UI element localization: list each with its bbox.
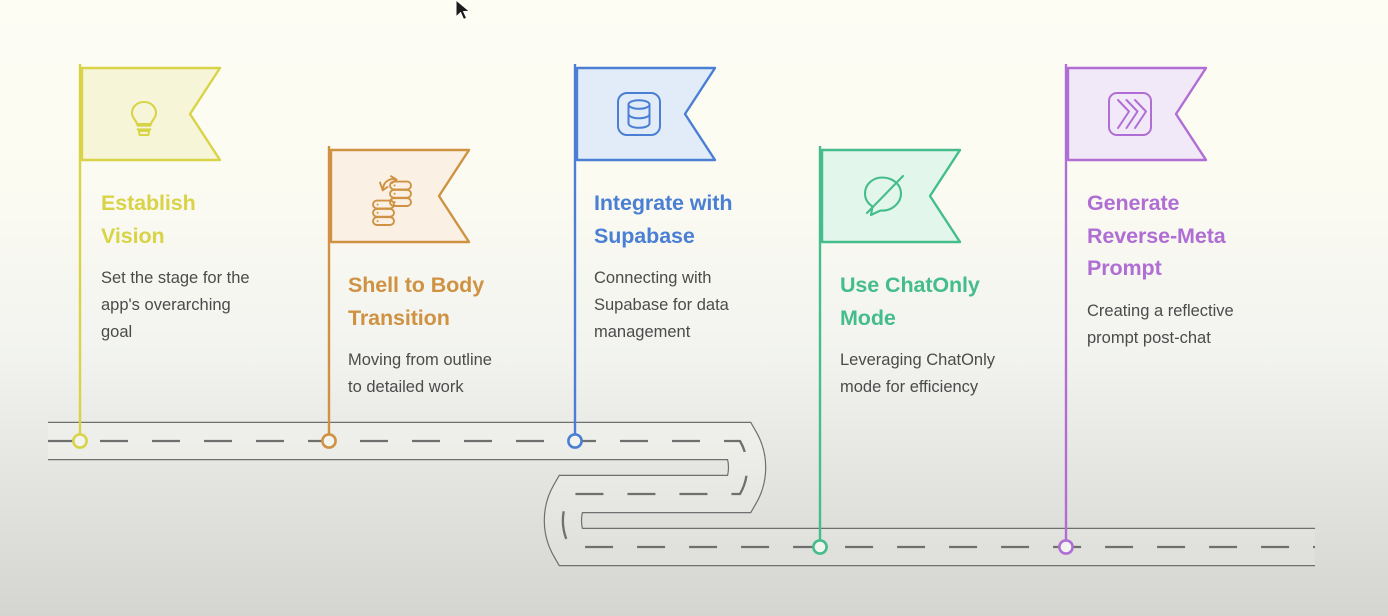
road-marker[interactable] <box>568 434 581 447</box>
infographic-canvas: Establish Vision Set the stage for the a… <box>0 0 1388 616</box>
milestone-marker-integrate-with-supabase[interactable] <box>568 64 715 448</box>
milestone-flag[interactable] <box>331 150 469 242</box>
road-marker[interactable] <box>322 434 335 447</box>
milestone-marker-shell-to-body-transition[interactable] <box>322 146 469 448</box>
road-marker[interactable] <box>1059 540 1072 553</box>
road-marker[interactable] <box>813 540 826 553</box>
milestone-flag[interactable] <box>82 68 220 160</box>
milestone-flag[interactable] <box>822 150 960 242</box>
milestone-flag[interactable] <box>577 68 715 160</box>
road-marker[interactable] <box>73 434 86 447</box>
milestone-marker-use-chatonly-mode[interactable] <box>813 146 960 554</box>
milestone-layer <box>0 0 1388 616</box>
milestone-marker-generate-reverse-meta-prompt[interactable] <box>1059 64 1206 554</box>
milestone-marker-establish-vision[interactable] <box>73 64 220 448</box>
